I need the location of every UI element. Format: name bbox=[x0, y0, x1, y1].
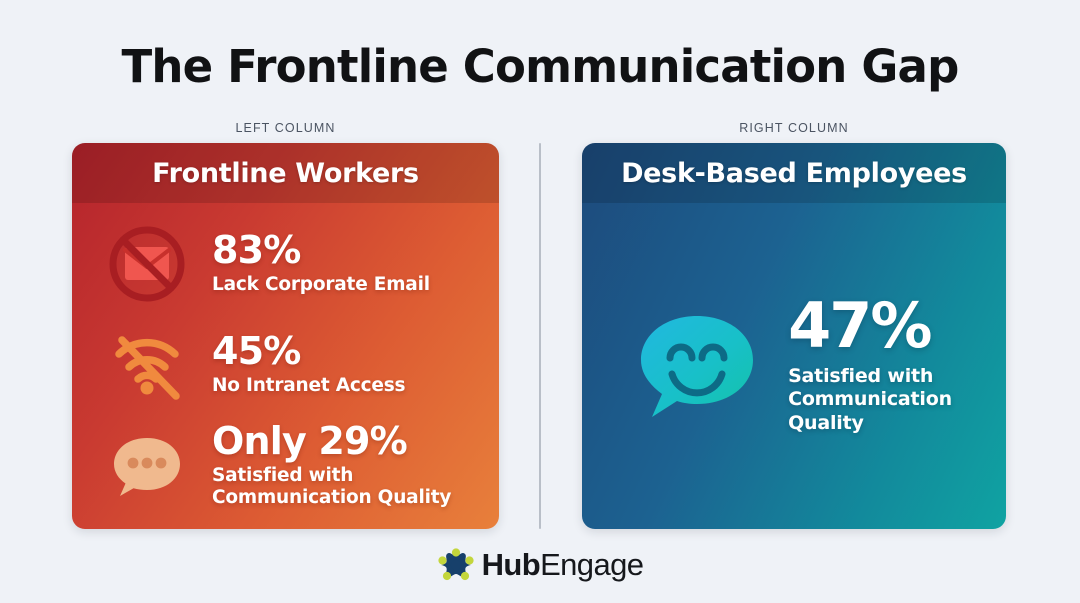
frontline-workers-card-header: Frontline Workers bbox=[72, 143, 499, 203]
smiley-chat-bubble-icon bbox=[636, 310, 758, 422]
desk-based-stat: 47% Satisfied with Communication Quality bbox=[582, 203, 1006, 529]
column-divider bbox=[539, 143, 541, 529]
stat-value: 47% bbox=[788, 297, 952, 356]
wifi-off-icon bbox=[106, 324, 188, 406]
right-column-caption: RIGHT COLUMN bbox=[582, 121, 1006, 135]
frontline-workers-card: Frontline Workers 83% Lack Corporate Ema… bbox=[72, 143, 499, 529]
stat-text: Only 29% Satisfied with Communication Qu… bbox=[212, 422, 451, 508]
logo-name-part2: Engage bbox=[540, 547, 643, 582]
stat-label-line-3: Quality bbox=[788, 412, 952, 435]
stat-label: Lack Corporate Email bbox=[212, 274, 430, 296]
list-item: 45% No Intranet Access bbox=[72, 314, 499, 415]
stat-label-line-1: Satisfied with bbox=[212, 465, 451, 487]
stat-label-line-2: Communication bbox=[788, 388, 952, 411]
stat-label: Satisfied with Communication Quality bbox=[212, 465, 451, 508]
stat-value: 45% bbox=[212, 332, 405, 370]
stat-label: No Intranet Access bbox=[212, 375, 405, 397]
list-item: Only 29% Satisfied with Communication Qu… bbox=[72, 415, 499, 516]
stat-label-line-2: Communication Quality bbox=[212, 487, 451, 509]
page-title: The Frontline Communication Gap bbox=[0, 40, 1080, 93]
stat-value: Only 29% bbox=[212, 422, 451, 460]
stat-value: 83% bbox=[212, 231, 430, 269]
hubengage-logo-text: HubEngage bbox=[482, 547, 644, 583]
desk-based-employees-card: Desk-Based Employees bbox=[582, 143, 1006, 529]
stat-text: 45% No Intranet Access bbox=[212, 332, 405, 397]
left-column-caption: LEFT COLUMN bbox=[72, 121, 499, 135]
logo-name-part1: Hub bbox=[482, 547, 540, 582]
hubengage-logo-icon bbox=[437, 546, 475, 584]
list-item: 83% Lack Corporate Email bbox=[72, 213, 499, 314]
stat-text: 47% Satisfied with Communication Quality bbox=[788, 297, 952, 434]
stat-label-line-1: Satisfied with bbox=[788, 365, 952, 388]
desk-based-employees-card-header: Desk-Based Employees bbox=[582, 143, 1006, 203]
desk-based-employees-title: Desk-Based Employees bbox=[621, 158, 967, 189]
frontline-stats-list: 83% Lack Corporate Email 45% No bbox=[72, 203, 499, 516]
stat-text: 83% Lack Corporate Email bbox=[212, 231, 430, 296]
footer-logo: HubEngage bbox=[0, 546, 1080, 584]
frontline-workers-title: Frontline Workers bbox=[152, 158, 419, 189]
chat-bubble-dots-icon bbox=[106, 425, 188, 507]
no-email-icon bbox=[106, 223, 188, 305]
stat-label: Satisfied with Communication Quality bbox=[788, 365, 952, 435]
